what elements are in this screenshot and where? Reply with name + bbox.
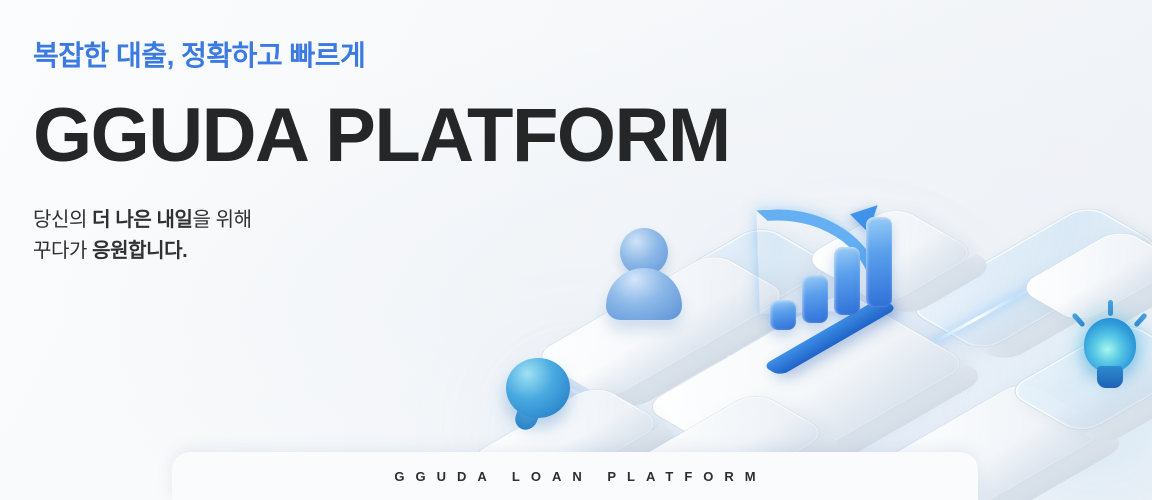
- user-avatar-icon: [606, 228, 682, 324]
- page-title: GGUDA PLATFORM: [33, 97, 593, 175]
- subtitle-line2-emphasis: 응원합니다.: [92, 240, 187, 262]
- speech-bubble-icon: [506, 358, 576, 444]
- hero-banner: 복잡한 대출, 정확하고 빠르게 GGUDA PLATFORM 당신의 더 나은…: [0, 0, 1152, 500]
- chart-bar: [770, 300, 796, 330]
- hero-subtitle-line-2: 꾸다가 응원합니다.: [33, 236, 593, 267]
- bottom-banner-text: GGUDA LOAN PLATFORM: [383, 469, 766, 484]
- chart-bar: [866, 217, 892, 307]
- bar-chart-growth-icon: [762, 242, 912, 352]
- chart-bar: [802, 275, 828, 323]
- subtitle-line2-pre: 꾸다가: [33, 240, 92, 262]
- subtitle-line1-pre: 당신의: [33, 209, 92, 231]
- hero-subtitle: 당신의 더 나은 내일을 위해 꾸다가 응원합니다.: [33, 205, 593, 267]
- hero-subtitle-line-1: 당신의 더 나은 내일을 위해: [33, 205, 593, 236]
- light-bulb-icon: [1068, 296, 1152, 396]
- bottom-banner: GGUDA LOAN PLATFORM: [172, 452, 978, 500]
- subtitle-line1-post: 을 위해: [193, 209, 252, 231]
- hero-copy: 복잡한 대출, 정확하고 빠르게 GGUDA PLATFORM 당신의 더 나은…: [33, 38, 593, 267]
- hero-tagline: 복잡한 대출, 정확하고 빠르게: [33, 38, 593, 73]
- subtitle-line1-emphasis: 더 나은 내일: [92, 209, 192, 231]
- chart-bar: [834, 247, 860, 315]
